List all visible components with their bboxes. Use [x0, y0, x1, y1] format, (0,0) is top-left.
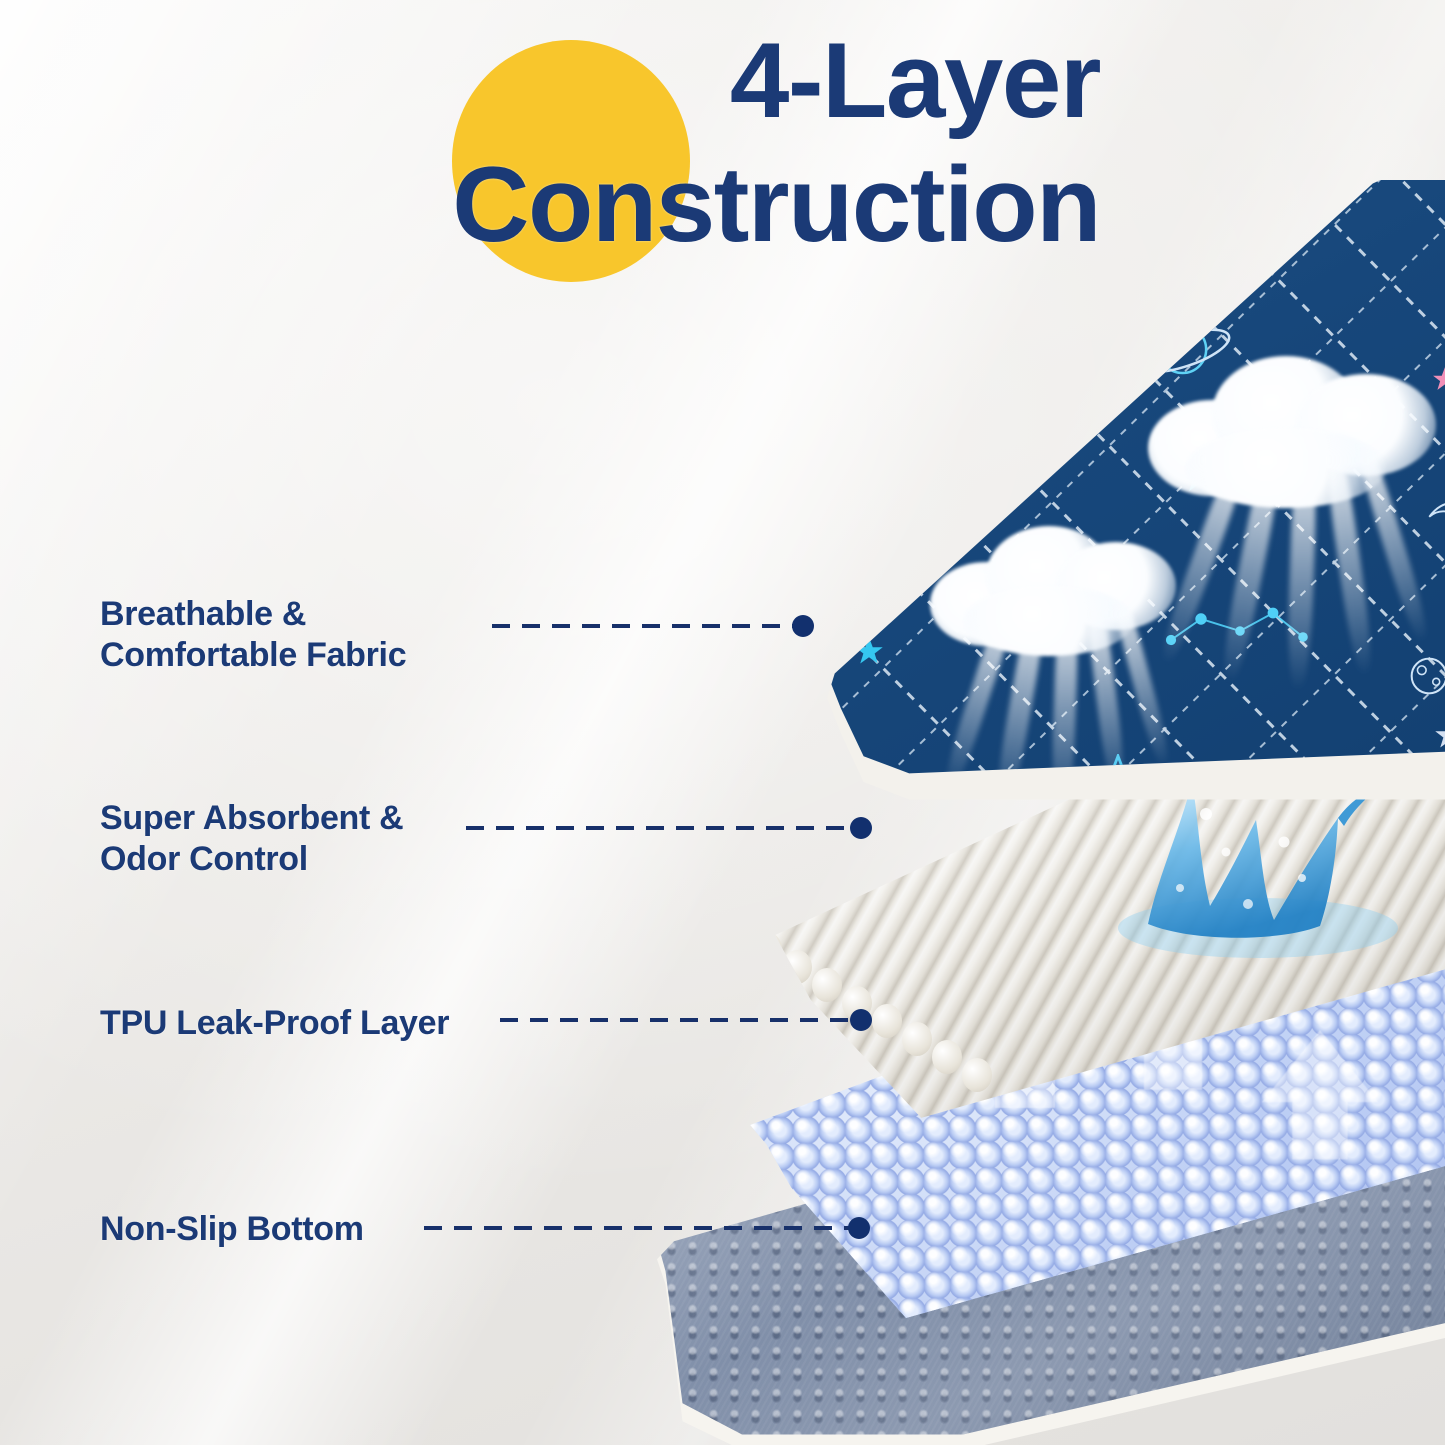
leader-dot-breathable	[792, 615, 814, 637]
leader-dot-tpu	[850, 1009, 872, 1031]
leader-line-breathable	[492, 624, 804, 628]
title-line-2: Construction	[0, 142, 1100, 266]
page-title: 4-Layer Construction	[0, 18, 1130, 266]
title-line-1: 4-Layer	[0, 18, 1100, 142]
layer-label-non-slip-bottom: Non-Slip Bottom	[100, 1209, 364, 1250]
leader-dot-nonslip	[848, 1217, 870, 1239]
infographic-canvas: 4-Layer Construction	[0, 0, 1445, 1445]
leader-dot-absorbent	[850, 817, 872, 839]
layer-label-absorbent-core: Super Absorbent & Odor Control	[100, 798, 403, 881]
layer-label-breathable-fabric: Breathable & Comfortable Fabric	[100, 594, 406, 677]
layer-label-tpu-leak-proof: TPU Leak-Proof Layer	[100, 1003, 449, 1044]
title-block: 4-Layer Construction	[0, 18, 1130, 318]
leader-line-nonslip	[424, 1226, 856, 1230]
leader-line-absorbent	[466, 826, 858, 830]
leader-line-tpu	[500, 1018, 858, 1022]
cloud-airflow-icon	[1140, 330, 1445, 660]
arrow-up-icon	[1260, 1022, 1380, 1162]
